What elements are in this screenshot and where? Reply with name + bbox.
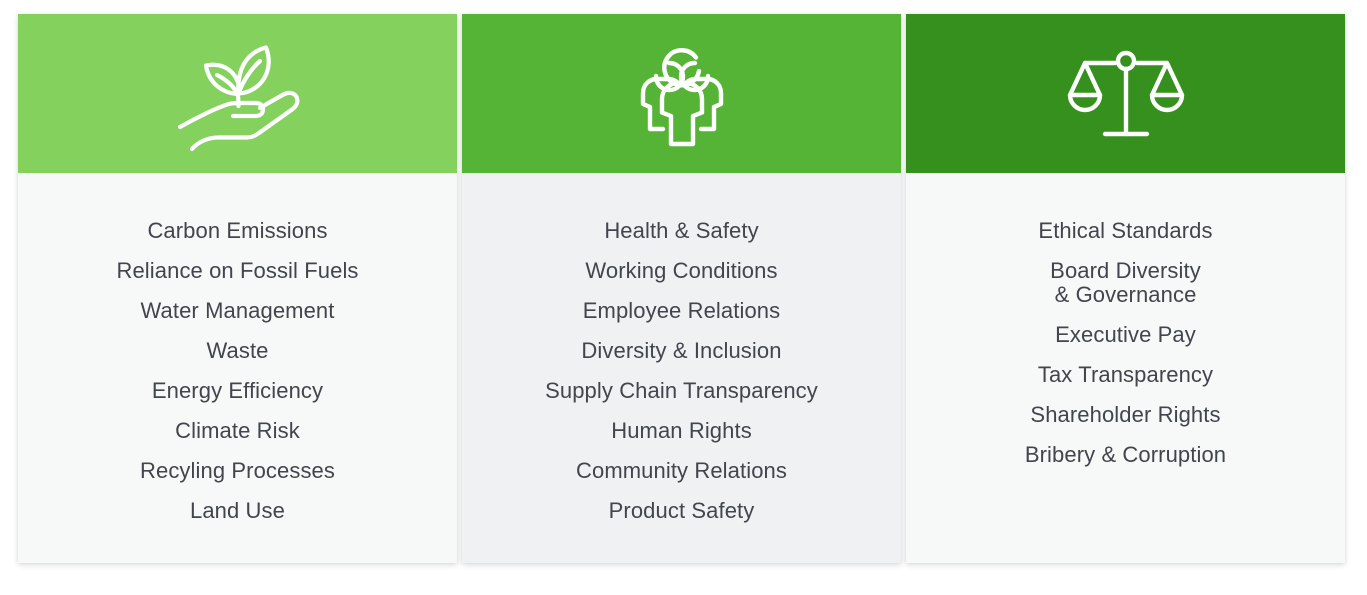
card-header-social <box>462 14 901 173</box>
topic-item: Energy Efficiency <box>152 379 323 403</box>
card-header-environmental <box>18 14 457 173</box>
topic-item: Water Management <box>141 299 335 323</box>
hand-holding-plant-icon <box>163 31 313 156</box>
topic-item: Employee Relations <box>583 299 780 323</box>
esg-card-environmental: Carbon Emissions Reliance on Fossil Fuel… <box>18 14 457 563</box>
topic-item: Health & Safety <box>604 219 758 243</box>
topic-list-governance: Ethical Standards Board Diversity & Gove… <box>906 173 1345 563</box>
topic-item: Tax Transparency <box>1038 363 1213 387</box>
topic-item: Executive Pay <box>1055 323 1196 347</box>
topic-item: Ethical Standards <box>1038 219 1212 243</box>
topic-item: Waste <box>206 339 268 363</box>
topic-list-environmental: Carbon Emissions Reliance on Fossil Fuel… <box>18 173 457 563</box>
topic-item: Land Use <box>190 499 285 523</box>
balance-scales-icon <box>1067 31 1185 156</box>
card-header-governance <box>906 14 1345 173</box>
topic-item: Shareholder Rights <box>1030 403 1220 427</box>
topic-item: Working Conditions <box>585 259 777 283</box>
people-group-icon <box>622 31 742 156</box>
topic-item: Supply Chain Transparency <box>545 379 818 403</box>
topic-item: Bribery & Corruption <box>1025 443 1226 467</box>
topic-item: Human Rights <box>611 419 752 443</box>
topic-item: Carbon Emissions <box>147 219 327 243</box>
esg-factors-board: Carbon Emissions Reliance on Fossil Fuel… <box>18 14 1345 563</box>
topic-item: Product Safety <box>609 499 755 523</box>
topic-item: Recyling Processes <box>140 459 335 483</box>
esg-card-social: Health & Safety Working Conditions Emplo… <box>462 14 901 563</box>
topic-item: Diversity & Inclusion <box>581 339 781 363</box>
topic-item: Board Diversity & Governance <box>1050 259 1201 307</box>
esg-card-governance: Ethical Standards Board Diversity & Gove… <box>906 14 1345 563</box>
topic-item: Reliance on Fossil Fuels <box>116 259 358 283</box>
topic-item: Community Relations <box>576 459 787 483</box>
topic-list-social: Health & Safety Working Conditions Emplo… <box>462 173 901 563</box>
topic-item: Climate Risk <box>175 419 300 443</box>
